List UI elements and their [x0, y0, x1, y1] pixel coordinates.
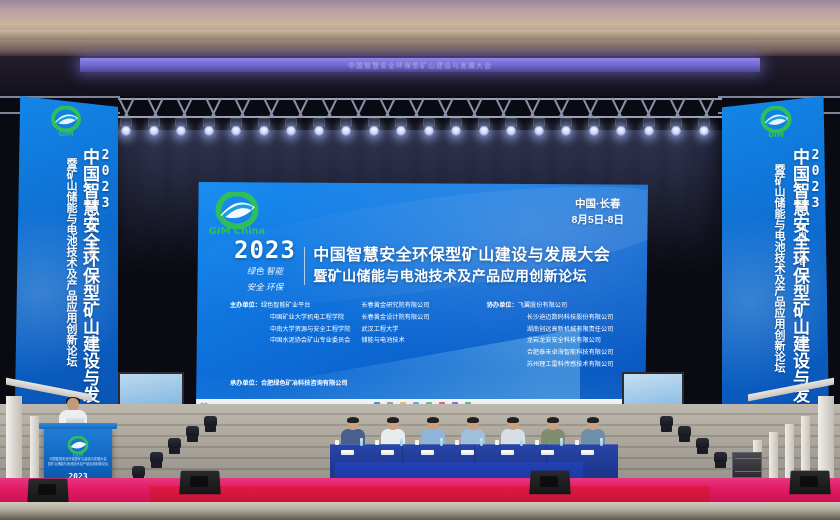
screen-calligraphy-1: 绿色 智能	[234, 265, 296, 278]
moving-head-light	[146, 118, 162, 140]
table-water-bottle	[560, 438, 563, 446]
host-1: 绿色智能矿业平台	[261, 302, 311, 309]
banner-left-year: 2023	[99, 148, 112, 212]
moving-head-light	[393, 118, 409, 140]
floor-moving-light	[660, 416, 673, 432]
gim-china-logo-icon: GIM	[754, 106, 798, 139]
stage-monitor-speaker-right	[529, 471, 570, 495]
host-8: 储能与电池技术	[361, 335, 476, 347]
host-5: 长春黄金研究院有限公司	[361, 300, 476, 312]
screen-year: 2023	[234, 238, 296, 262]
organizer-name: 合肥绿色矿冶科技咨询有限公司	[261, 380, 348, 387]
table-cup	[575, 440, 579, 445]
cohost-6: 苏州理工雷科传感技术有限公司	[487, 359, 626, 371]
screen-city: 中国·长春	[571, 196, 624, 212]
table-nameplate	[581, 450, 594, 455]
moving-head-light	[696, 118, 712, 140]
conference-stage-photo: 中国智慧安全环保型矿山建设与发展大会 GIM 2023 中国·长春 中国智慧安全…	[0, 0, 840, 520]
screen-dates: 8月5日-8日	[571, 212, 624, 228]
foreground-barrier	[0, 502, 840, 520]
table-cup	[535, 440, 539, 445]
banner-right-year: 2023	[809, 148, 822, 212]
table-cup	[415, 440, 419, 445]
table-cup	[455, 440, 459, 445]
moving-head-light	[613, 118, 629, 140]
table-water-bottle	[360, 438, 363, 446]
moving-head-light	[366, 118, 382, 140]
banner-right-logo: GIM	[754, 106, 798, 144]
table-cup	[375, 440, 379, 445]
stage-monitor-speaker-left	[179, 471, 220, 495]
screen-calligraphy-2: 安全 环保	[234, 281, 296, 294]
table-nameplate	[381, 450, 394, 455]
moving-head-light	[503, 118, 519, 140]
lighting-truss-center	[118, 96, 722, 120]
moving-head-light	[448, 118, 464, 140]
podium-top	[39, 423, 117, 429]
table-nameplate	[421, 450, 434, 455]
org-column-hosts-2: 长春黄金研究院有限公司 长春黄金设计院有限公司 武汉工程大学 储能与电池技术	[361, 300, 476, 371]
svg-text:GIM: GIM	[58, 130, 73, 138]
banner-left-title-sub: 暨矿山储能与电池技术及产品应用创新论坛	[65, 158, 76, 367]
table-cup	[335, 440, 339, 445]
organizer-line: 承办单位：合肥绿色矿冶科技咨询有限公司	[230, 378, 626, 390]
main-led-screen: GIM China 中国·长春 8月5日-8日 2023 绿色 智能 安全 环保…	[196, 182, 648, 410]
equipment-road-case	[732, 452, 762, 478]
floor-moving-light	[714, 452, 727, 468]
cohost-4: 龙岩龙安安全科技有限公司	[487, 335, 626, 347]
screen-city-date: 中国·长春 8月5日-8日	[571, 196, 624, 229]
org-column-cohosts: 协办单位：飞翼股份有限公司 长沙迪迈数码科技股份有限公司 湖南创远高新机械有限责…	[487, 300, 626, 371]
moving-head-light	[283, 118, 299, 140]
host-6: 长春黄金设计院有限公司	[361, 312, 476, 324]
title-divider	[304, 247, 306, 285]
right-dark-edge	[830, 120, 840, 420]
moving-head-light	[531, 118, 547, 140]
table-water-bottle	[600, 438, 603, 446]
overhead-led-strip: 中国智慧安全环保型矿山建设与发展大会	[80, 58, 760, 72]
podium-title-line2: 暨矿山储能与电池技术及产品应用创新论坛	[46, 462, 110, 467]
light-beam-glow	[109, 130, 199, 280]
organizer-label: 承办单位：	[230, 380, 261, 387]
cohost-label: 协办单位：	[487, 302, 518, 309]
screen-logo: GIM China	[208, 192, 266, 241]
floor-moving-light	[204, 416, 217, 432]
banner-right-title-sub: 暨矿山储能与电池技术及产品应用创新论坛	[773, 164, 784, 373]
moving-head-light	[338, 118, 354, 140]
floor-moving-light	[168, 438, 181, 454]
banner-left-logo: GIM	[45, 106, 87, 143]
cohost-3: 湖南创远高新机械有限责任公司	[487, 324, 626, 336]
table-water-bottle	[480, 438, 483, 446]
floor-moving-light	[696, 438, 709, 454]
table-water-bottle	[520, 438, 523, 446]
table-nameplate	[341, 450, 354, 455]
moving-head-light	[641, 118, 657, 140]
moving-head-light	[586, 118, 602, 140]
host-label: 主办单位：	[230, 302, 261, 309]
table-nameplate	[461, 450, 474, 455]
cohost-5: 合肥泰禾卓海智能科技有限公司	[487, 347, 626, 359]
moving-head-light	[668, 118, 684, 140]
led-strip-text: 中国智慧安全环保型矿山建设与发展大会	[348, 61, 492, 71]
screen-year-block: 2023 绿色 智能 安全 环保	[234, 238, 296, 294]
screen-title-row: 2023 绿色 智能 安全 环保 中国智慧安全环保型矿山建设与发展大会 暨矿山储…	[234, 238, 610, 294]
screen-title-sub: 暨矿山储能与电池技术及产品应用创新论坛	[313, 267, 610, 285]
cohost-2: 长沙迪迈数码科技股份有限公司	[487, 312, 626, 324]
host-7: 武汉工程大学	[361, 324, 476, 336]
screen-organizations: 主办单位：绿色智能矿业平台 中国矿业大学机电工程学院 中南大学资源与安全工程学院…	[230, 300, 626, 389]
host-3: 中南大学资源与安全工程学院	[230, 324, 351, 336]
floor-moving-light	[150, 452, 163, 468]
svg-text:GIM China: GIM China	[209, 226, 265, 236]
moving-head-light	[118, 118, 134, 140]
screen-title-lines: 中国智慧安全环保型矿山建设与发展大会 暨矿山储能与电池技术及产品应用创新论坛	[313, 246, 610, 285]
org-column-hosts-1: 主办单位：绿色智能矿业平台 中国矿业大学机电工程学院 中南大学资源与安全工程学院…	[230, 300, 351, 371]
moving-head-light	[228, 118, 244, 140]
moving-head-light	[201, 118, 217, 140]
svg-text:GIM: GIM	[768, 130, 784, 139]
moving-head-light	[256, 118, 272, 140]
gim-china-logo-icon: GIM China	[208, 192, 266, 236]
host-2: 中国矿业大学机电工程学院	[230, 312, 351, 324]
moving-head-light	[311, 118, 327, 140]
moving-head-light	[173, 118, 189, 140]
gim-china-logo-icon: GIM	[45, 106, 87, 138]
table-water-bottle	[440, 438, 443, 446]
ceiling-beam	[0, 30, 840, 40]
floor-moving-light	[186, 426, 199, 442]
moving-head-light	[558, 118, 574, 140]
floor-moving-light	[678, 426, 691, 442]
table-nameplate	[541, 450, 554, 455]
table-cup	[495, 440, 499, 445]
table-water-bottle	[400, 438, 403, 446]
stage-monitor-speaker-far-left	[27, 479, 68, 503]
host-4: 中国水泥协会矿山专业委员会	[230, 335, 351, 347]
cohost-1: 飞翼股份有限公司	[518, 302, 568, 309]
gim-china-logo-icon: GIM	[63, 436, 93, 458]
table-nameplate	[501, 450, 514, 455]
stage-monitor-speaker-far-right	[789, 471, 830, 495]
podium-title: 中国智慧安全环保型矿山建设与发展大会 暨矿山储能与电池技术及产品应用创新论坛	[46, 457, 110, 467]
moving-head-light	[421, 118, 437, 140]
venue-ceiling	[0, 0, 840, 58]
screen-title-main: 中国智慧安全环保型矿山建设与发展大会	[313, 246, 610, 266]
moving-head-light	[476, 118, 492, 140]
